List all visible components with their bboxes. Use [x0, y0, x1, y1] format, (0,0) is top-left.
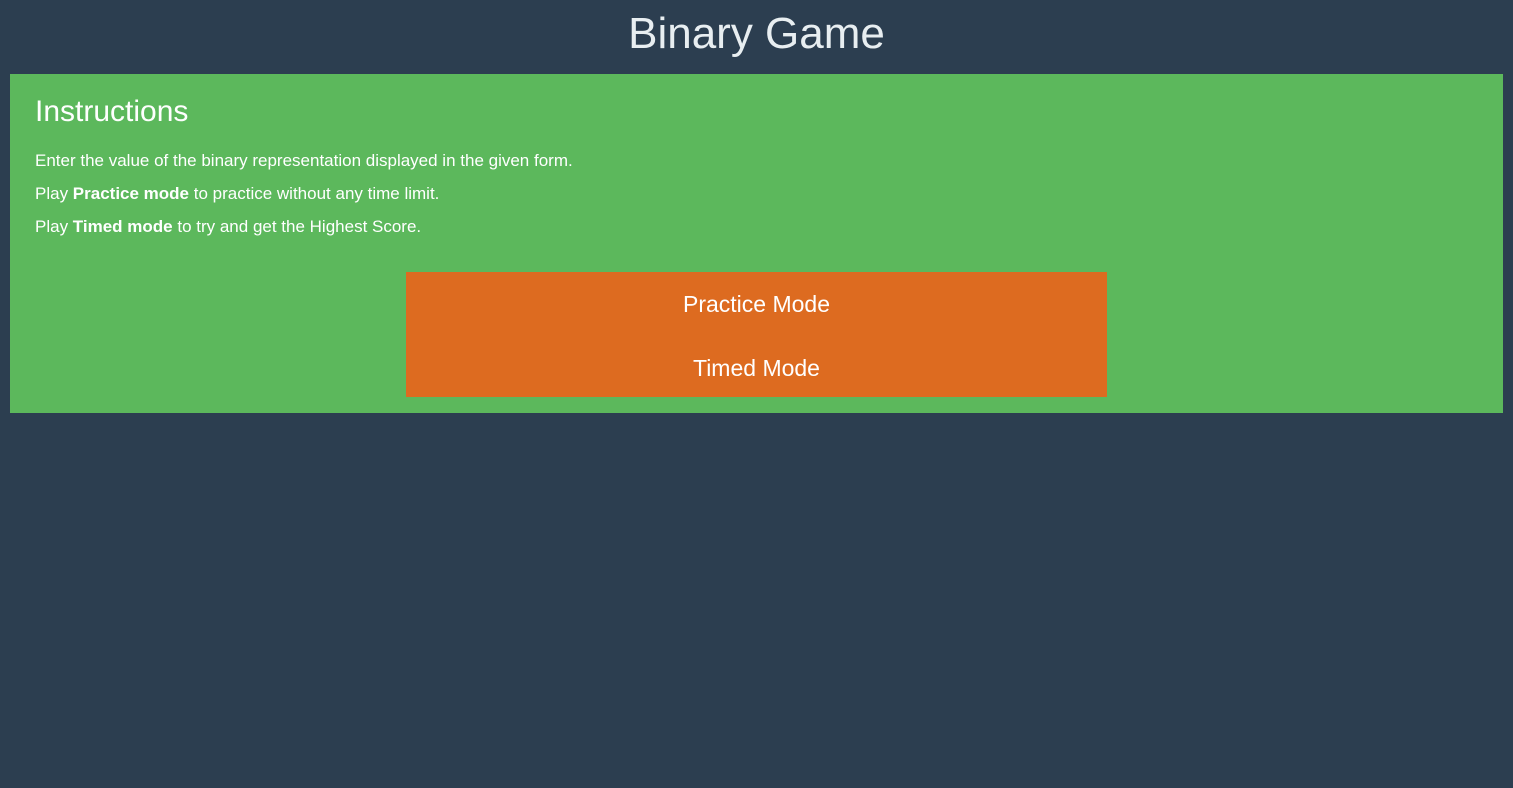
instruction-text-strong: Timed mode	[73, 217, 173, 236]
instructions-text-block: Enter the value of the binary representa…	[35, 144, 1235, 243]
instruction-text-strong: Practice mode	[73, 184, 189, 203]
mode-selection-block: Practice Mode Timed Mode	[406, 272, 1107, 397]
instruction-line: Enter the value of the binary representa…	[35, 144, 1235, 177]
game-content-area	[0, 413, 1513, 788]
instruction-text-pre: Play	[35, 217, 73, 236]
binary-game-app: Binary Game Instructions Enter the value…	[0, 0, 1513, 788]
instructions-panel: Instructions Enter the value of the bina…	[10, 74, 1503, 413]
instruction-text-post: to practice without any time limit.	[189, 184, 439, 203]
instruction-text-pre: Enter the value of the binary representa…	[35, 151, 573, 170]
practice-mode-button[interactable]: Practice Mode	[406, 272, 1107, 336]
instruction-line: Play Timed mode to try and get the Highe…	[35, 210, 1235, 243]
timed-mode-button[interactable]: Timed Mode	[406, 336, 1107, 400]
instruction-text-post: to try and get the Highest Score.	[173, 217, 422, 236]
app-header: Binary Game	[0, 0, 1513, 74]
instructions-heading: Instructions	[35, 94, 188, 130]
page-title: Binary Game	[628, 12, 885, 62]
instruction-text-pre: Play	[35, 184, 73, 203]
instruction-line: Play Practice mode to practice without a…	[35, 177, 1235, 210]
